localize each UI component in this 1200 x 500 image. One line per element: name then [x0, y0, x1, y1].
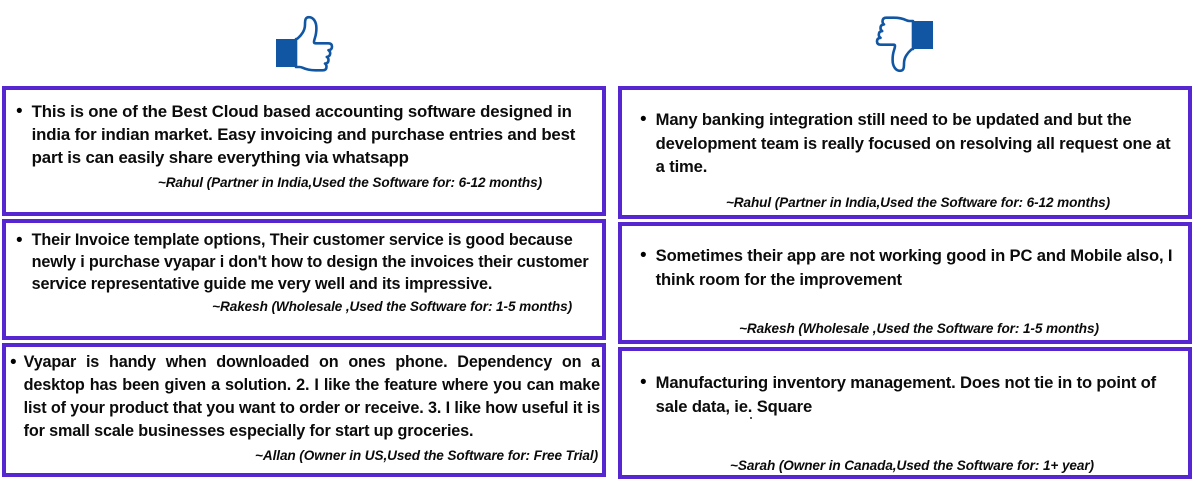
- bullet-icon: •: [10, 351, 17, 374]
- stray-dot-mark: [750, 417, 752, 419]
- review-attribution: ~Rakesh (Wholesale ,Used the Software fo…: [14, 299, 594, 314]
- review-attribution: ~Rakesh (Wholesale ,Used the Software fo…: [638, 321, 1180, 336]
- review-attribution: ~Sarah (Owner in Canada,Used the Softwar…: [638, 458, 1180, 473]
- bullet-icon: •: [16, 229, 23, 252]
- thumbs-up-icon-slot: [256, 12, 356, 76]
- bullet-icon: •: [16, 100, 23, 123]
- thumbs-down-icon: [872, 15, 934, 73]
- cons-column: • Many banking integration still need to…: [618, 86, 1192, 482]
- thumbs-up-icon: [275, 15, 337, 73]
- thumbs-down-icon-slot: [853, 12, 953, 76]
- review-text: Their Invoice template options, Their cu…: [32, 229, 594, 295]
- review-text: Manufacturing inventory management. Does…: [656, 371, 1180, 418]
- review-attribution: ~Allan (Owner in US,Used the Software fo…: [10, 448, 600, 463]
- pros-review-card-3: • Vyapar is handy when downloaded on one…: [2, 343, 606, 477]
- pros-review-card-1: • This is one of the Best Cloud based ac…: [2, 86, 606, 216]
- icon-header-row: [0, 0, 1200, 84]
- bullet-icon: •: [640, 371, 647, 394]
- cons-review-card-2: • Sometimes their app are not working go…: [618, 222, 1192, 344]
- review-attribution: ~Rahul (Partner in India,Used the Softwa…: [638, 195, 1180, 210]
- bullet-icon: •: [640, 244, 647, 267]
- cons-review-card-1: • Many banking integration still need to…: [618, 86, 1192, 219]
- review-text: This is one of the Best Cloud based acco…: [32, 100, 594, 169]
- bullet-line: • Their Invoice template options, Their …: [14, 229, 594, 295]
- review-text: Sometimes their app are not working good…: [656, 244, 1180, 291]
- bullet-icon: •: [640, 108, 647, 131]
- bullet-line: • This is one of the Best Cloud based ac…: [14, 100, 594, 169]
- bullet-line: • Vyapar is handy when downloaded on one…: [10, 351, 600, 443]
- pros-review-card-2: • Their Invoice template options, Their …: [2, 219, 606, 340]
- pros-column: • This is one of the Best Cloud based ac…: [2, 86, 606, 480]
- cons-review-card-3: • Manufacturing inventory management. Do…: [618, 347, 1192, 479]
- bullet-line: • Sometimes their app are not working go…: [638, 244, 1180, 291]
- review-attribution: ~Rahul (Partner in India,Used the Softwa…: [14, 175, 594, 190]
- review-text: Many banking integration still need to b…: [656, 108, 1180, 179]
- bullet-line: • Manufacturing inventory management. Do…: [638, 371, 1180, 418]
- review-text: Vyapar is handy when downloaded on ones …: [24, 351, 600, 443]
- pros-cons-comparison-page: • This is one of the Best Cloud based ac…: [0, 0, 1200, 500]
- bullet-line: • Many banking integration still need to…: [638, 108, 1180, 179]
